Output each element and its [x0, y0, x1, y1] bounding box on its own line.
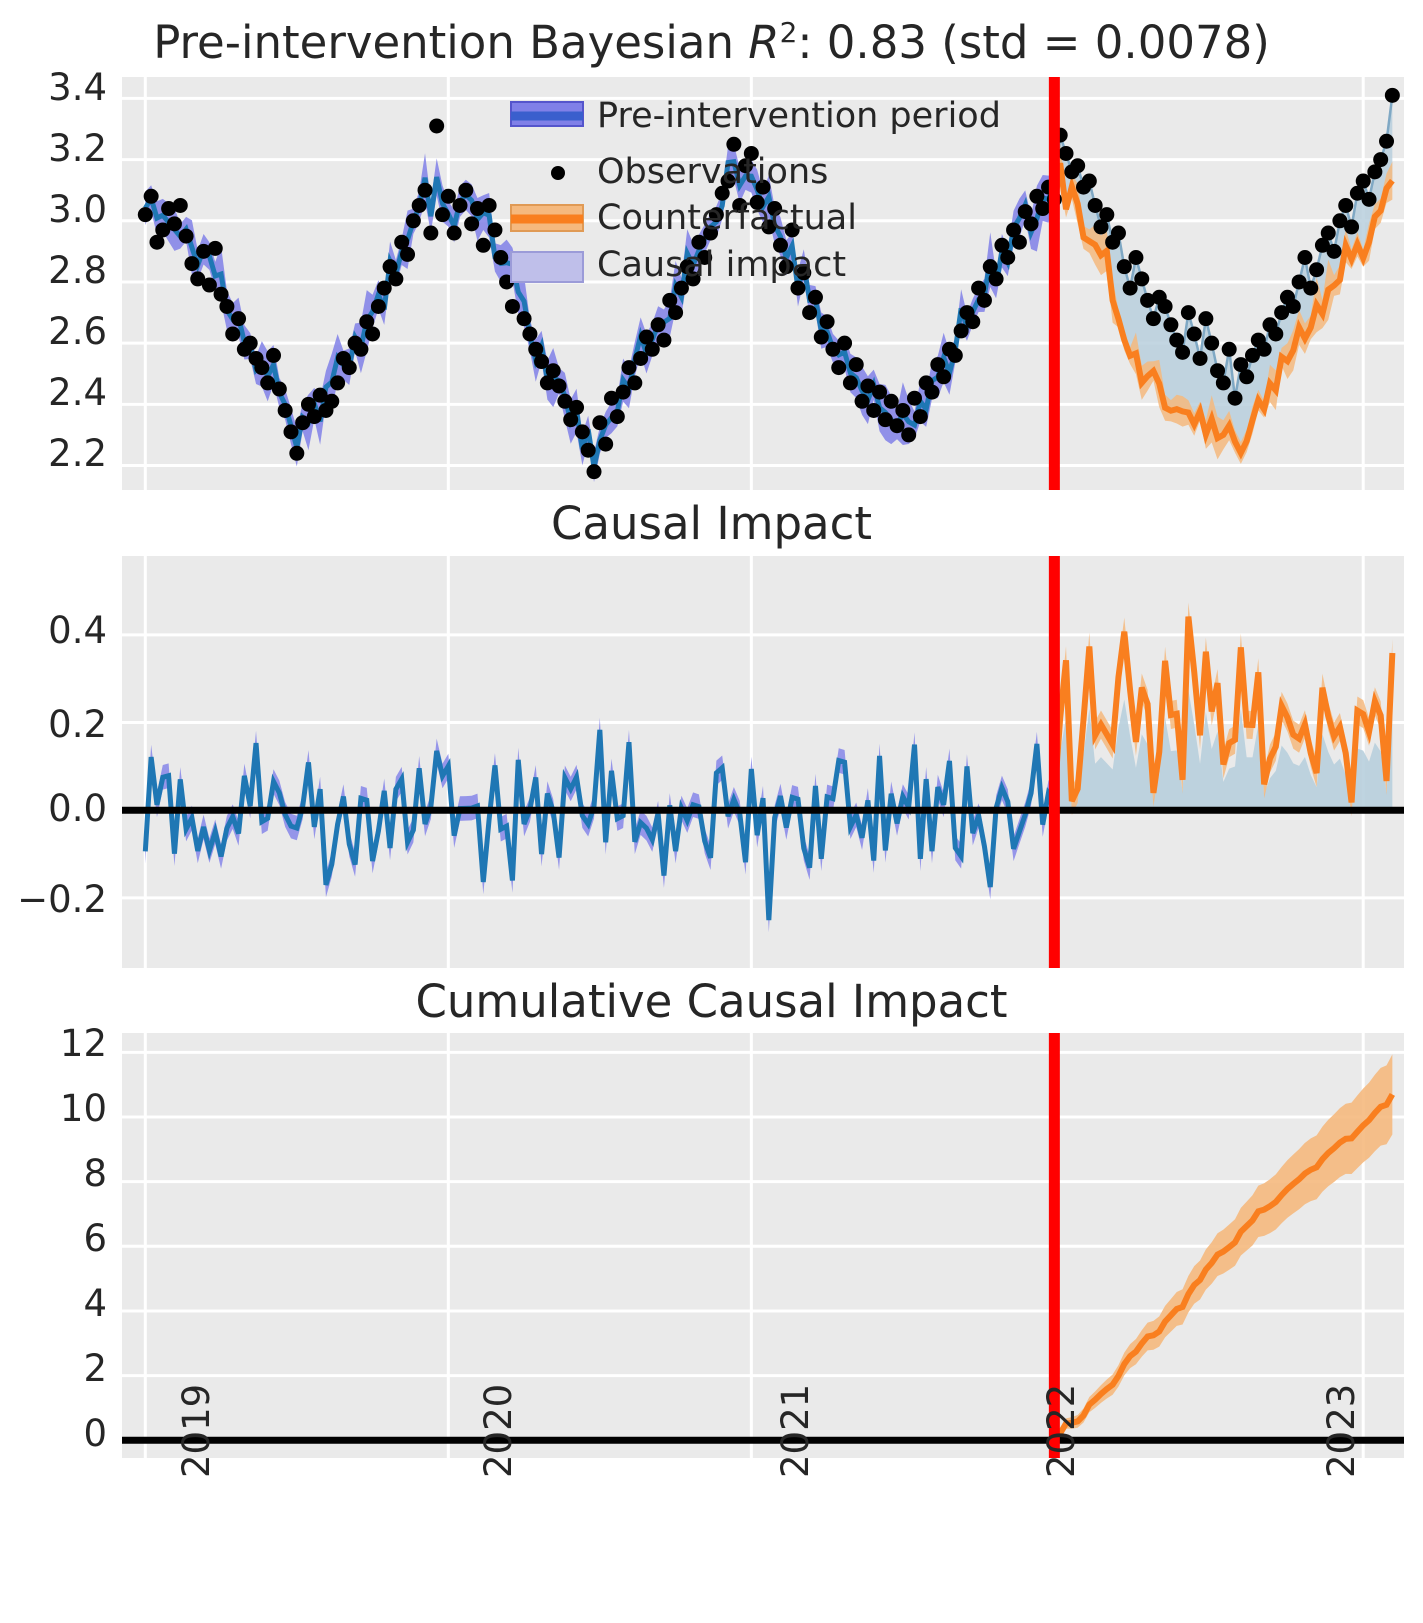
legend-label-counterfactual: Counterfactual: [597, 201, 857, 236]
xtick-2020: 2020: [477, 1384, 520, 1478]
panel2-plot: [122, 556, 1404, 968]
ytick-3.0: 3.0: [0, 191, 107, 228]
ytick-6: 6: [0, 1220, 107, 1257]
panel3-plot: [122, 1033, 1404, 1458]
ytick-2.8: 2.8: [0, 252, 107, 289]
ytick-2.6: 2.6: [0, 313, 107, 350]
ytick-0: 0: [0, 1415, 107, 1452]
ytick-10: 10: [0, 1090, 107, 1127]
ytick-0.2: 0.2: [0, 706, 107, 743]
ytick-neg-0.2: −0.2: [0, 881, 107, 918]
legend-label-observations: Observations: [597, 155, 828, 190]
ytick-0.0: 0.0: [0, 790, 107, 827]
ytick-2.2: 2.2: [0, 435, 107, 472]
xtick-2023: 2023: [1320, 1384, 1363, 1478]
xtick-2021: 2021: [774, 1384, 817, 1478]
title-r-symbol: R: [748, 16, 779, 69]
causal-impact-figure: Pre-intervention Bayesian R2: 0.83 (std …: [0, 0, 1423, 1623]
title-superscript: 2: [780, 16, 798, 49]
bottom-panel-title: Cumulative Causal Impact: [0, 975, 1423, 1028]
ytick-8: 8: [0, 1155, 107, 1192]
legend-label-causal-impact: Causal impact: [597, 248, 846, 283]
panel-causal-impact: [122, 556, 1404, 968]
ytick-4: 4: [0, 1285, 107, 1322]
legend-label-pre-intervention: Pre-intervention period: [597, 99, 1001, 134]
title-text-after: : 0.83 (std = 0.0078): [797, 16, 1270, 69]
middle-panel-title: Causal Impact: [0, 497, 1423, 550]
ytick-0.4: 0.4: [0, 612, 107, 649]
ytick-3.4: 3.4: [0, 69, 107, 106]
title-text-before: Pre-intervention Bayesian: [153, 16, 748, 69]
xtick-2022: 2022: [1040, 1384, 1083, 1478]
ytick-12: 12: [0, 1025, 107, 1062]
top-panel-title: Pre-intervention Bayesian R2: 0.83 (std …: [0, 16, 1423, 69]
xtick-2019: 2019: [175, 1384, 218, 1478]
panel-cumulative-causal-impact: [122, 1033, 1404, 1458]
ytick-3.2: 3.2: [0, 130, 107, 167]
ytick-2: 2: [0, 1350, 107, 1387]
ytick-2.4: 2.4: [0, 374, 107, 411]
